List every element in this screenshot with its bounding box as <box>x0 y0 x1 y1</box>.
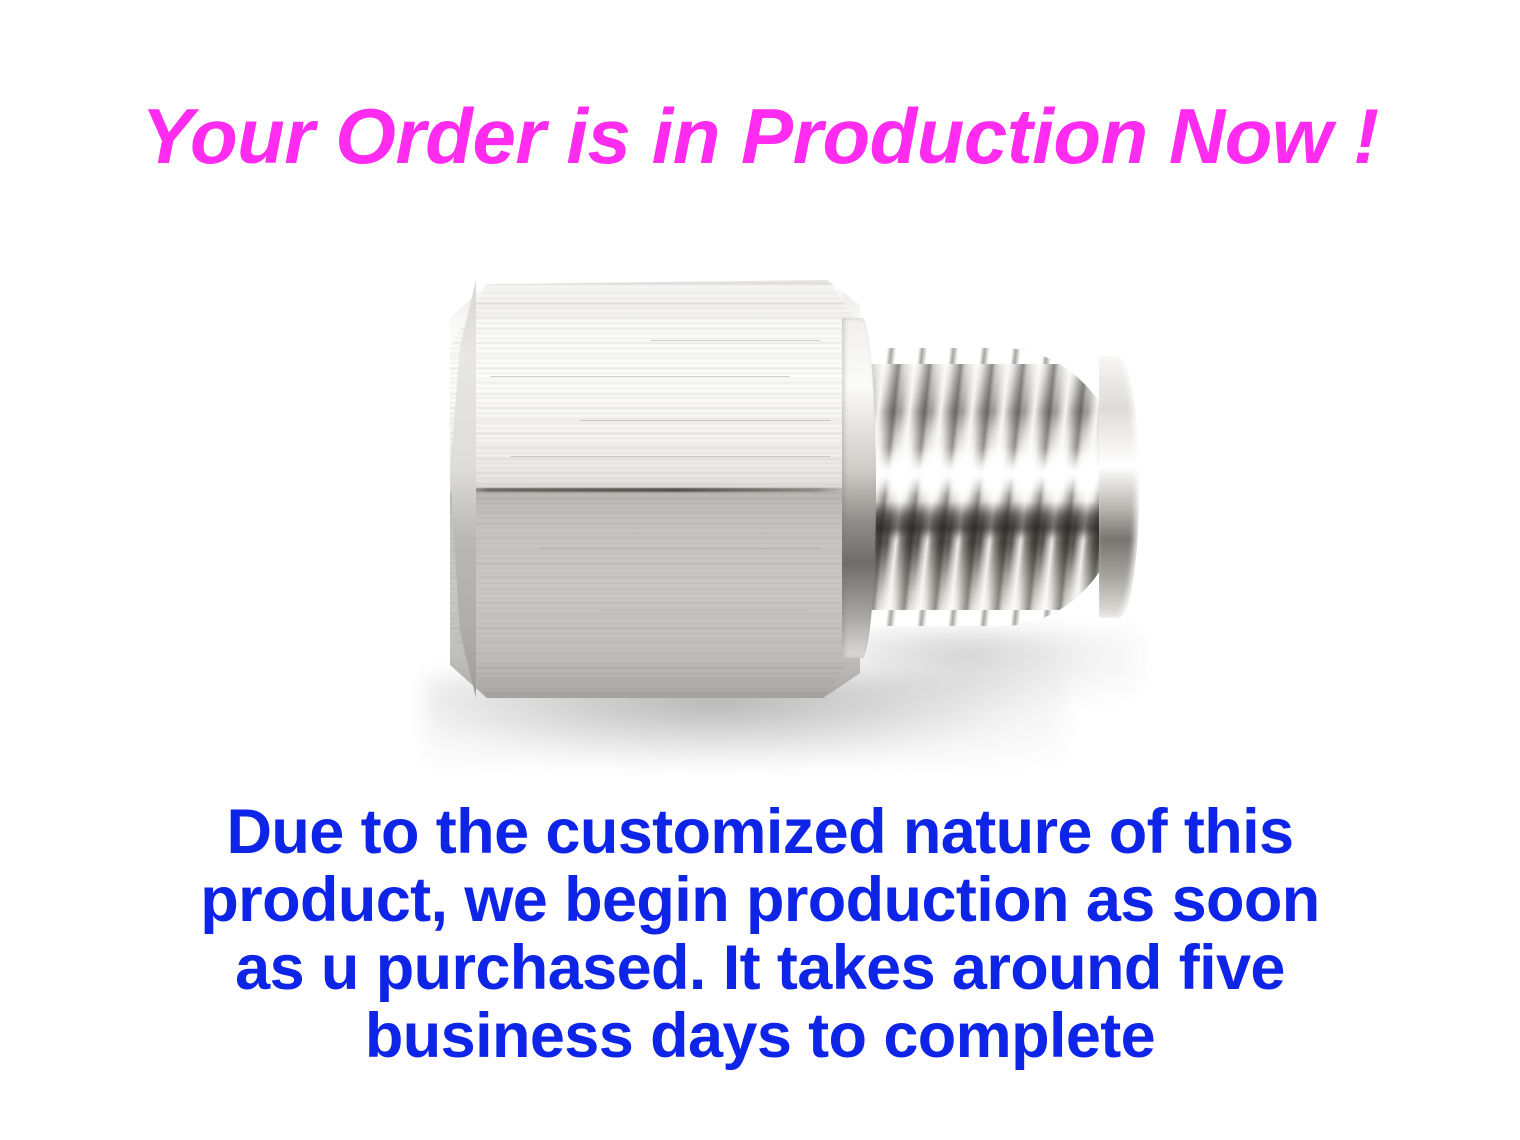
disclaimer-line-1: Due to the customized nature of this <box>0 798 1520 866</box>
hex-body <box>450 280 860 698</box>
hex-facet-edge <box>456 488 856 492</box>
disclaimer-line-4: business days to complete <box>0 1002 1520 1070</box>
hex-scratch-mark <box>600 610 810 611</box>
threaded-male-end <box>845 342 1135 632</box>
hex-scratch-mark <box>510 456 830 457</box>
thread-crest-top <box>845 348 1113 364</box>
hex-scratch-mark <box>490 376 790 377</box>
disclaimer-line-2: product, we begin production as soon <box>0 866 1520 934</box>
thread-end-nose <box>1099 356 1139 618</box>
product-photo <box>330 230 1190 790</box>
thread-shadow-band <box>845 501 1125 540</box>
hex-scratch-mark <box>580 420 830 421</box>
promo-image-canvas: Your Order is in Production Now ! <box>0 0 1520 1140</box>
hex-scratch-mark <box>540 548 820 549</box>
hex-thread-shoulder <box>842 318 876 658</box>
thread-specular-highlight <box>845 448 1125 495</box>
hex-scratch-mark <box>650 340 820 341</box>
disclaimer-text: Due to the customized nature of this pro… <box>0 798 1520 1070</box>
thread-crest-bottom <box>845 610 1113 626</box>
page-title: Your Order is in Production Now ! <box>0 93 1520 179</box>
thread-cylinder <box>845 348 1125 626</box>
hex-top-rim-highlight <box>468 286 844 302</box>
hex-lower-facet <box>450 492 860 698</box>
product-cast-shadow-secondary <box>850 630 1140 700</box>
disclaimer-line-3: as u purchased. It takes around five <box>0 934 1520 1002</box>
hex-upper-facet <box>450 280 860 492</box>
